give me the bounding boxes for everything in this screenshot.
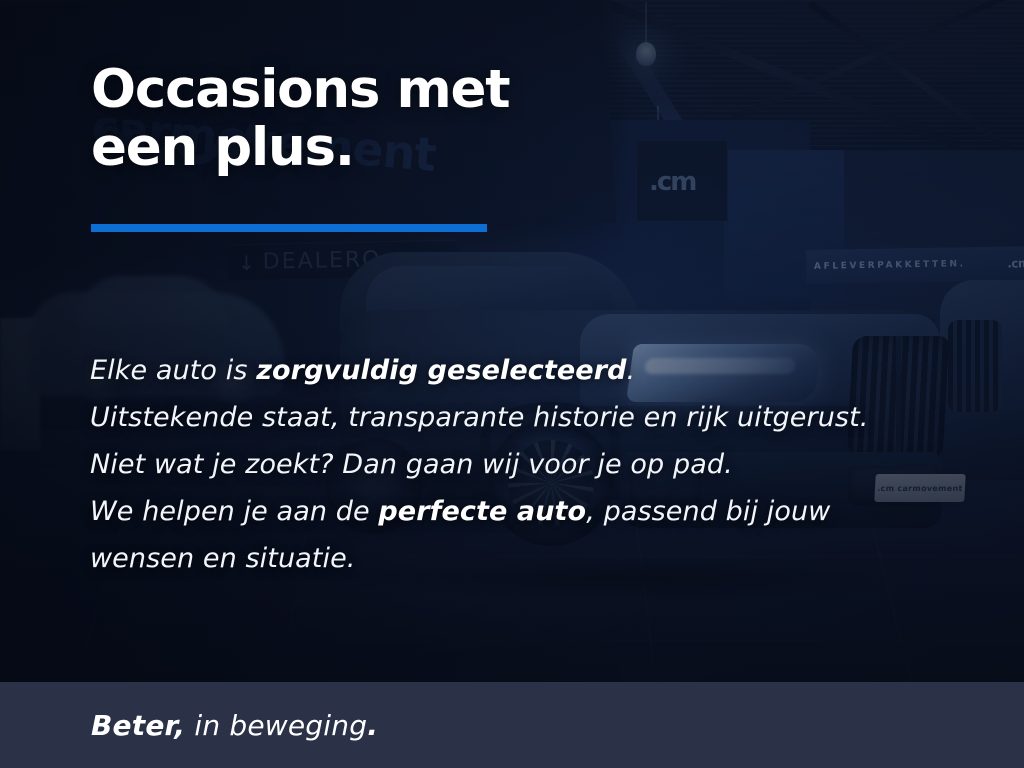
down-arrow-icon: ↓ xyxy=(238,250,255,274)
slide-canvas: .cm carmovement ↓ DEALERO AFLEVERPAKKETT… xyxy=(0,0,1024,768)
body-line-1-prefix: Elke auto is xyxy=(90,355,256,386)
footer-bar: Beter, in beweging. xyxy=(0,682,1024,768)
body-line-5: wensen en situatie. xyxy=(90,535,970,582)
body-line-2: Uitstekende staat, transparante historie… xyxy=(90,394,970,441)
body-line-1: Elke auto is zorgvuldig geselecteerd. xyxy=(90,347,970,394)
body-line-4: We helpen je aan de perfecte auto, passe… xyxy=(90,488,970,535)
footer-tagline-light: in beweging xyxy=(185,709,367,742)
body-line-3: Niet wat je zoekt? Dan gaan wij voor je … xyxy=(90,441,970,488)
ceiling-lamp xyxy=(636,42,656,66)
body-line-4-suffix: , passend bij jouw xyxy=(586,496,830,527)
footer-tagline-dot: . xyxy=(367,709,378,742)
footer-tagline: Beter, in beweging. xyxy=(91,709,378,742)
body-line-1-emphasis: zorgvuldig geselecteerd xyxy=(256,355,626,386)
cm-logo-icon: .cm xyxy=(649,167,695,197)
delivery-sign-logo: .cm xyxy=(1007,256,1024,270)
body-copy: Elke auto is zorgvuldig geselecteerd. Ui… xyxy=(90,347,970,582)
body-line-4-emphasis: perfecte auto xyxy=(378,496,586,527)
wall-logo-panel: .cm xyxy=(636,140,728,222)
footer-tagline-bold: Beter, xyxy=(91,709,185,742)
body-line-4-prefix: We helpen je aan de xyxy=(90,496,378,527)
body-line-1-suffix: . xyxy=(627,355,636,386)
accent-divider xyxy=(91,224,487,232)
page-title: Occasions met een plus. xyxy=(91,61,509,177)
